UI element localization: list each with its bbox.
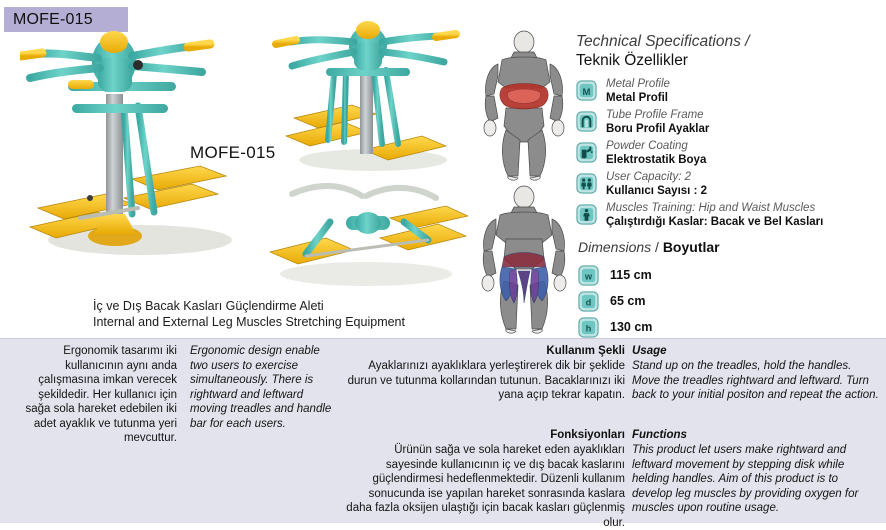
user-capacity-icon	[576, 173, 597, 194]
metal-profile-icon: M	[576, 80, 597, 101]
powder-coating-icon	[576, 142, 597, 163]
usage-tr-heading: Kullanım Şekli	[342, 344, 625, 359]
spec-row-tube-profile: Tube Profile Frame Boru Profil Ayaklar	[576, 108, 884, 136]
functions-en-column: Functions This product let users make ri…	[632, 428, 880, 516]
spec-text-tube-profile: Tube Profile Frame Boru Profil Ayaklar	[606, 108, 884, 136]
technical-specifications-panel: Technical Specifications / Teknik Özelli…	[576, 32, 884, 232]
ergonomics-en-column: Ergonomic design enable two users to exe…	[190, 344, 335, 431]
spec-text-powder-coating: Powder Coating Elektrostatik Boya	[606, 139, 884, 167]
dimension-row-height: h 130 cm	[578, 314, 878, 340]
usage-en-column: Usage Stand up on the treadles, hold the…	[632, 344, 880, 403]
spec-tr-user-capacity: Kullanıcı Sayısı : 2	[606, 184, 884, 198]
functions-tr-body: Ürünün sağa ve sola hareket eden ayaklık…	[342, 443, 625, 530]
spec-tr-muscles-training: Çalıştırdığı Kaslar: Bacak ve Bel Kaslar…	[606, 215, 884, 229]
svg-text:h: h	[586, 323, 592, 333]
dimensions-panel: Dimensions / Boyutlar w 115 cm d 65 cm	[578, 238, 878, 340]
spec-en-metal-profile: Metal Profile	[606, 77, 884, 91]
ergonomics-en-body: Ergonomic design enable two users to exe…	[190, 344, 335, 431]
dimension-value-width: 115 cm	[610, 268, 652, 282]
spec-en-powder-coating: Powder Coating	[606, 139, 884, 153]
ergonomics-tr-body: Ergonomik tasarımı iki kullanıcının aynı…	[12, 344, 177, 446]
specs-title-tr: Teknik Özellikler	[576, 51, 884, 70]
spec-text-user-capacity: User Capacity: 2 Kullanıcı Sayısı : 2	[606, 170, 884, 198]
svg-text:w: w	[584, 271, 593, 281]
specs-title-en: Technical Specifications /	[576, 32, 884, 51]
functions-tr-heading: Fonksiyonları	[342, 428, 625, 443]
width-icon: w	[578, 265, 599, 286]
anatomy-rear-view	[472, 30, 576, 182]
dimensions-title-en: Dimensions	[578, 239, 651, 255]
height-icon: h	[578, 317, 599, 338]
spec-text-metal-profile: Metal Profile Metal Profil	[606, 77, 884, 105]
tube-profile-icon	[576, 111, 597, 132]
dimensions-title-tr: Boyutlar	[663, 239, 720, 255]
functions-en-body: This product let users make rightward an…	[632, 443, 880, 516]
ergonomics-tr-column: Ergonomik tasarımı iki kullanıcının aynı…	[12, 344, 177, 446]
spec-tr-tube-profile: Boru Profil Ayaklar	[606, 122, 884, 136]
functions-en-heading: Functions	[632, 428, 880, 443]
dimension-value-depth: 65 cm	[610, 294, 645, 308]
usage-tr-column: Kullanım Şekli Ayaklarınızı ayaklıklara …	[342, 344, 625, 403]
spec-tr-powder-coating: Elektrostatik Boya	[606, 153, 884, 167]
product-caption-tr: İç ve Dış Bacak Kasları Güçlendirme Alet…	[93, 298, 405, 314]
anatomy-illustrations	[472, 30, 582, 338]
technical-specifications-title: Technical Specifications / Teknik Özelli…	[576, 32, 884, 70]
dimensions-title-separator: /	[655, 239, 659, 255]
dimension-value-height: 130 cm	[610, 320, 652, 334]
svg-text:M: M	[583, 87, 591, 98]
dimensions-title: Dimensions / Boyutlar	[578, 238, 878, 256]
dimension-row-width: w 115 cm	[578, 262, 878, 288]
muscles-training-icon	[576, 204, 597, 225]
product-caption-en: Internal and External Leg Muscles Stretc…	[93, 314, 405, 330]
spec-text-muscles-training: Muscles Training: Hip and Waist Muscles …	[606, 201, 884, 229]
spec-row-muscles-training: Muscles Training: Hip and Waist Muscles …	[576, 201, 884, 229]
dimension-row-depth: d 65 cm	[578, 288, 878, 314]
functions-tr-column: Fonksiyonları Ürünün sağa ve sola hareke…	[342, 428, 625, 530]
usage-tr-body: Ayaklarınızı ayaklıklara yerleştirerek d…	[342, 359, 625, 403]
depth-icon: d	[578, 291, 599, 312]
upper-region: MOFE-015	[0, 0, 886, 338]
product-illustration-area: MOFE-015 İç ve Dış Bacak Kasları Güçlend…	[0, 0, 470, 338]
spec-en-user-capacity: User Capacity: 2	[606, 170, 884, 184]
spec-en-muscles-training: Muscles Training: Hip and Waist Muscles	[606, 201, 884, 215]
spec-row-powder-coating: Powder Coating Elektrostatik Boya	[576, 139, 884, 167]
usage-en-body: Stand up on the treadles, hold the handl…	[632, 359, 880, 403]
specs-list: M Metal Profile Metal Profil Tube Profil…	[576, 77, 884, 229]
equipment-secondary-illustration	[268, 18, 463, 183]
spec-tr-metal-profile: Metal Profil	[606, 91, 884, 105]
equipment-topview-illustration	[262, 178, 468, 294]
spec-row-metal-profile: M Metal Profile Metal Profil	[576, 77, 884, 105]
spec-en-tube-profile: Tube Profile Frame	[606, 108, 884, 122]
usage-en-heading: Usage	[632, 344, 880, 359]
svg-text:d: d	[586, 297, 592, 307]
product-code-label: MOFE-015	[190, 143, 276, 163]
spec-row-user-capacity: User Capacity: 2 Kullanıcı Sayısı : 2	[576, 170, 884, 198]
product-caption: İç ve Dış Bacak Kasları Güçlendirme Alet…	[93, 298, 405, 330]
anatomy-front-view	[472, 185, 576, 335]
